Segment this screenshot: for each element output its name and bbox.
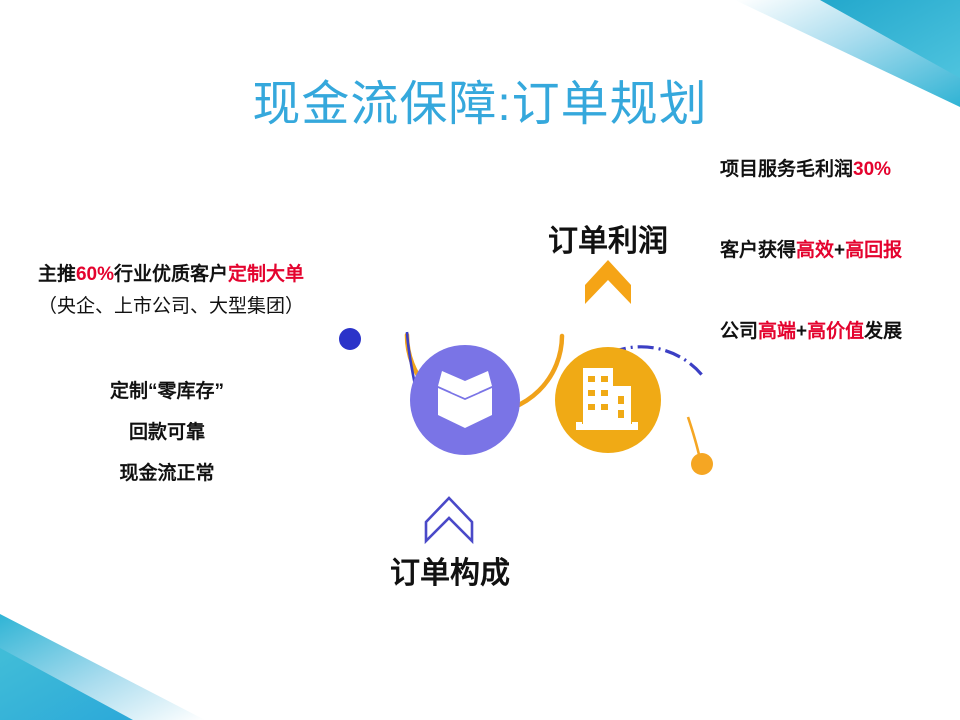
right-line-3-black2: + — [796, 321, 807, 342]
right-line-3-black3: 发展 — [864, 321, 902, 342]
left-bullet-list: 定制“零库存” 回款可靠 现金流正常 — [22, 382, 312, 505]
right-line-1-black1: 项目服务毛利润 — [720, 159, 853, 180]
right-line-1-red1: 30% — [853, 159, 891, 180]
right-line-2-red1: 高效 — [796, 240, 834, 261]
left-headline-part1: 主推 — [38, 264, 76, 285]
left-text-block: 主推60%行业优质客户定制大单 （央企、上市公司、大型集团） — [6, 262, 336, 319]
diagram-top-label: 订单利润 — [498, 216, 718, 260]
left-bullet-3: 现金流正常 — [22, 464, 312, 483]
slide-canvas: 现金流保障:订单规划 主推60%行业优质客户定制大单 （央企、上市公司、大型集团… — [0, 0, 960, 720]
left-bullet-2: 回款可靠 — [22, 423, 312, 442]
orange-endpoint-dot — [691, 453, 713, 475]
blue-endpoint-dot — [339, 328, 361, 350]
up-chevron-icon — [585, 260, 631, 304]
right-line-3: 公司高端+高价值发展 — [720, 322, 956, 341]
corner-shape-bottom-left-dark — [0, 648, 133, 720]
page-title: 现金流保障:订单规划 — [0, 64, 960, 134]
right-line-2-black2: + — [834, 240, 845, 261]
left-headline: 主推60%行业优质客户定制大单 — [6, 262, 336, 288]
left-headline-highlight1: 60% — [76, 264, 114, 285]
orange-tail-line — [688, 417, 700, 459]
left-headline-part2: 行业优质客户 — [114, 264, 228, 285]
left-headline-highlight2: 定制大单 — [228, 264, 304, 285]
corner-shape-bottom-left-light — [0, 614, 205, 720]
down-chevron-icon — [426, 498, 472, 541]
right-line-2-red2: 高回报 — [845, 240, 902, 261]
center-diagram — [320, 200, 740, 600]
left-bullet-1: 定制“零库存” — [22, 382, 312, 401]
right-line-1: 项目服务毛利润30% — [720, 160, 956, 179]
right-line-3-red1: 高端 — [758, 321, 796, 342]
right-text-block: 项目服务毛利润30% 客户获得高效+高回报 公司高端+高价值发展 — [720, 160, 956, 403]
right-line-3-red2: 高价值 — [807, 321, 864, 342]
diagram-bottom-label: 订单构成 — [350, 548, 550, 592]
left-subline: （央企、上市公司、大型集团） — [6, 294, 336, 320]
right-line-2: 客户获得高效+高回报 — [720, 241, 956, 260]
